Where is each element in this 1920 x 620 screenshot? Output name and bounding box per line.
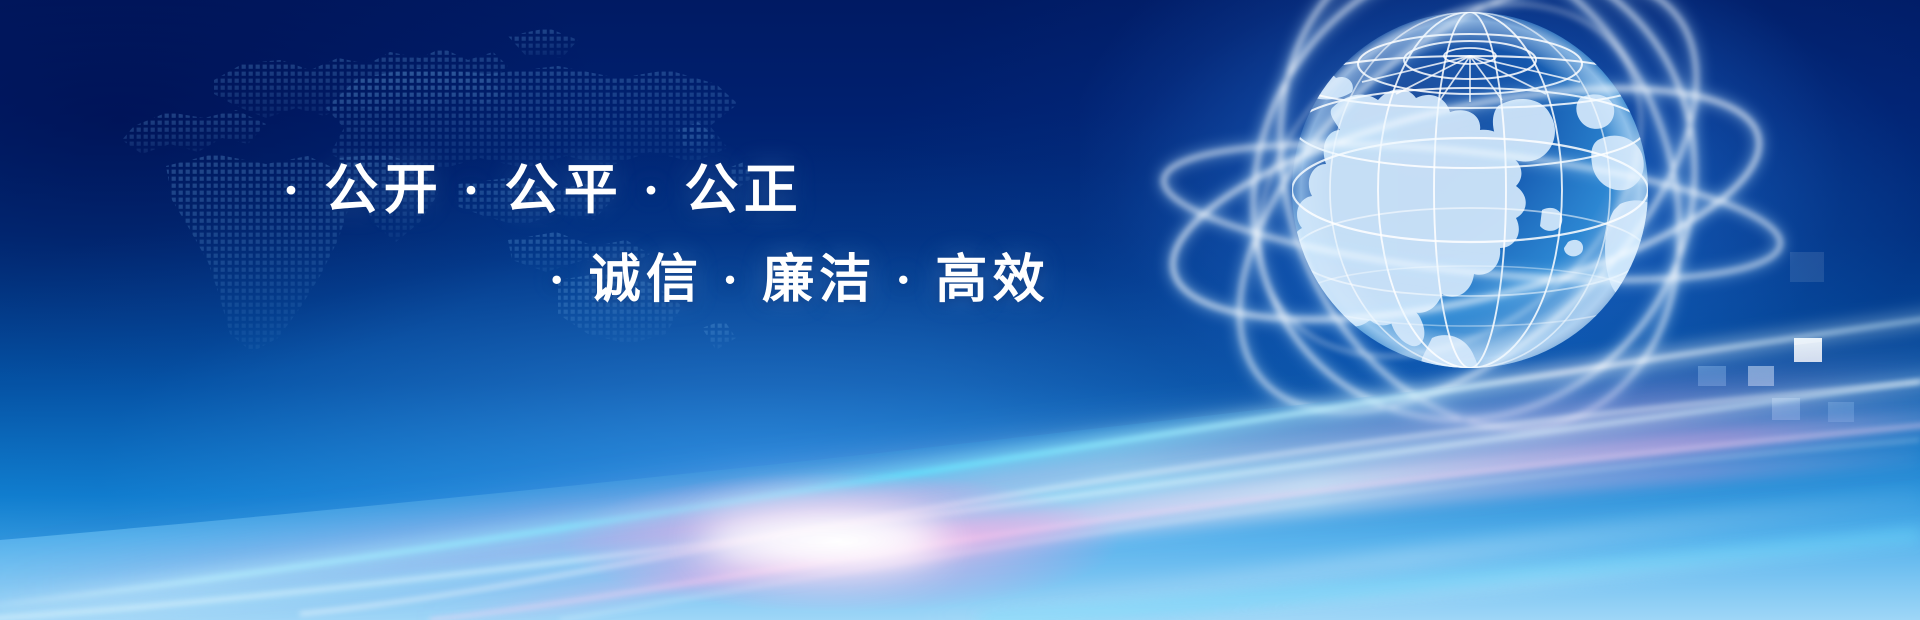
slogan-line-2: · 诚信 · 廉洁 · 高效 [548,237,1050,312]
slogan-line-1: · 公开 · 公平 · 公正 [282,145,803,224]
pixel-squares-motif [1660,250,1920,450]
slogan-block: · 公开 · 公平 · 公正 · 诚信 · 廉洁 · 高效 [0,0,1200,330]
background-glow-layer [0,0,1920,620]
globe-glow [1080,0,1860,470]
dotted-world-map [38,8,758,358]
pixel-square [1828,402,1854,422]
pixel-square [1794,338,1822,362]
wireframe-globe [1150,0,1790,410]
pixel-square [1748,366,1774,386]
bottom-light-sweep [0,290,1920,620]
pixel-square [1772,398,1800,420]
promo-banner: · 公开 · 公平 · 公正 · 诚信 · 廉洁 · 高效 [0,0,1920,620]
pixel-square [1790,252,1824,282]
pixel-square [1698,366,1726,386]
